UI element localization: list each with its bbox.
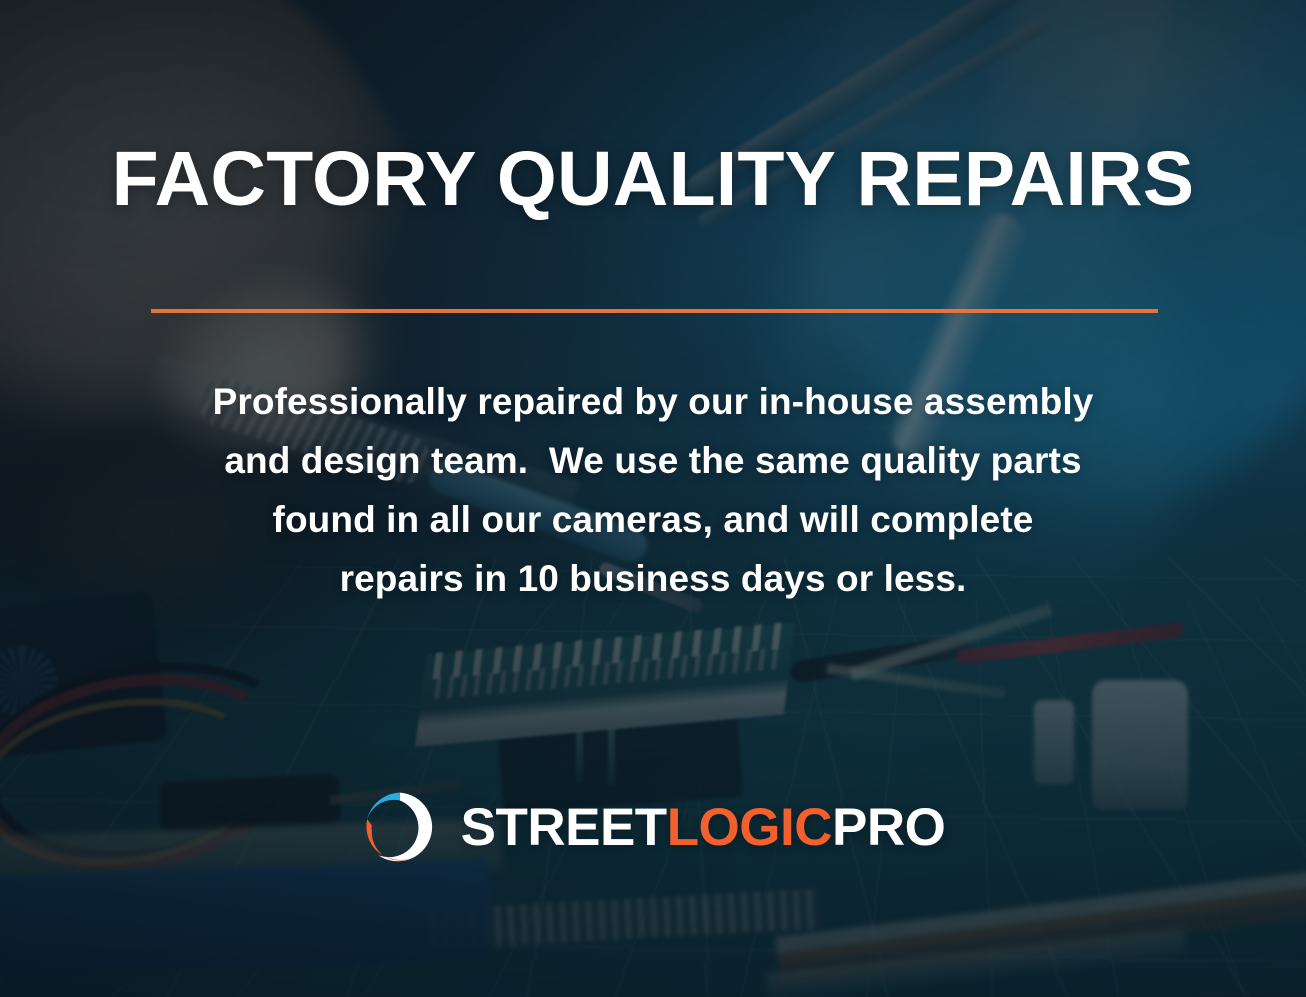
description-line: repairs in 10 business days or less. [0, 549, 1306, 608]
description-text: Professionally repaired by our in-house … [0, 372, 1306, 608]
promo-banner: FACTORY QUALITY REPAIRS Professionally r… [0, 0, 1306, 997]
brand-word-street: STREET [461, 798, 667, 857]
divider [151, 309, 1158, 313]
brand-word-pro: PRO [832, 798, 945, 857]
description-line: and design team. We use the same quality… [0, 431, 1306, 490]
page-title: FACTORY QUALITY REPAIRS [0, 141, 1306, 218]
description-line: Professionally repaired by our in-house … [0, 372, 1306, 431]
description-line: found in all our cameras, and will compl… [0, 490, 1306, 549]
brand-logo: STREETLOGICPRO [0, 788, 1306, 866]
banner-content: FACTORY QUALITY REPAIRS Professionally r… [0, 0, 1306, 997]
brand-word-logic: LOGIC [667, 798, 832, 857]
streetlogicpro-circle-mark [361, 788, 439, 866]
brand-wordmark: STREETLOGICPRO [461, 801, 946, 854]
